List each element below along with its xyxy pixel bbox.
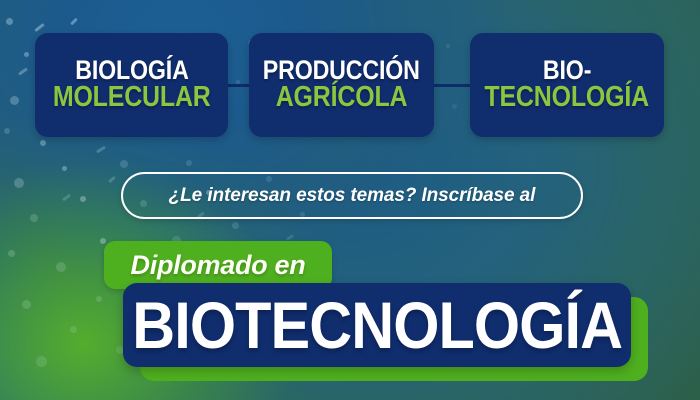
program-title-text: BIOTECNOLOGÍA [132, 287, 622, 363]
program-title-box: BIOTECNOLOGÍA [123, 283, 631, 367]
callout-pill[interactable]: ¿Le interesan estos temas? Inscríbase al [121, 172, 583, 219]
topic-card-line2: MOLECULAR [53, 84, 211, 112]
topic-card-line2: AGRÍCOLA [276, 84, 408, 112]
program-kicker-text: Diplomado en [131, 250, 306, 281]
topic-card-produccion-agricola[interactable]: PRODUCCIÓN AGRÍCOLA [249, 33, 434, 137]
topic-card-line2: TECNOLOGÍA [485, 84, 650, 112]
promo-poster: BIOLOGÍA MOLECULAR PRODUCCIÓN AGRÍCOLA B… [0, 0, 700, 400]
callout-text: ¿Le interesan estos temas? Inscríbase al [169, 185, 536, 207]
topic-card-biologia-molecular[interactable]: BIOLOGÍA MOLECULAR [35, 33, 228, 137]
topic-card-row: BIOLOGÍA MOLECULAR PRODUCCIÓN AGRÍCOLA B… [0, 33, 700, 137]
topic-card-biotecnologia[interactable]: BIO- TECNOLOGÍA [470, 33, 664, 137]
program-kicker-banner: Diplomado en [104, 241, 332, 289]
